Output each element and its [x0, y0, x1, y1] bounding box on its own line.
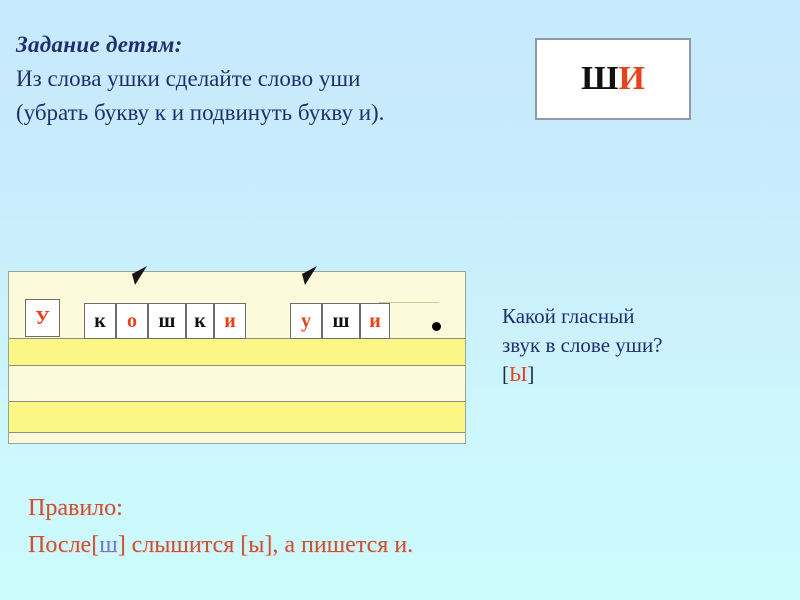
bracket-close: ] [527, 362, 534, 386]
rule-after: ] слышится [ы], а пишется и. [118, 532, 413, 558]
stress-mark-2-icon [300, 266, 318, 288]
rule-letter-sh: ш [99, 532, 117, 558]
question-line-2: звук в слове уши? [502, 331, 792, 360]
letter-cell-i2[interactable]: и [360, 303, 390, 339]
stress-mark-1-icon [130, 266, 148, 288]
rule-body: После[ш] слышится [ы], а пишется и. [28, 527, 548, 564]
period-dot [432, 322, 441, 331]
task-heading: Задание детям: [16, 28, 516, 62]
letter-cell-i1[interactable]: и [214, 303, 246, 339]
shi-highlight-box: ШИ [535, 38, 691, 120]
letter-cell-sh2[interactable]: ш [322, 303, 360, 339]
rule-before: После[ [28, 532, 99, 558]
band-yellow-1 [9, 338, 465, 366]
faint-rule-line [379, 302, 439, 303]
rule-text-block: Правило: После[ш] слышится [ы], а пишетс… [28, 490, 548, 564]
question-answer: [Ы] [502, 360, 792, 389]
task-line-1: Из слова ушки сделайте слово уши [16, 62, 516, 96]
task-line-2: (убрать букву к и подвинуть букву и). [16, 96, 516, 130]
band-yellow-2 [9, 401, 465, 433]
letter-strip-panel: У к о ш к и у ш и [8, 271, 466, 444]
letter-cell-u-solo[interactable]: У [25, 299, 60, 337]
question-line-1: Какой гласный [502, 302, 792, 331]
letter-cell-o[interactable]: о [116, 303, 148, 339]
shi-letter-sh: Ш [581, 60, 618, 98]
letter-cell-u2[interactable]: у [290, 303, 322, 339]
shi-letters: ШИ [537, 40, 689, 118]
letter-cell-k1[interactable]: к [84, 303, 116, 339]
band-cream-3 [9, 433, 465, 443]
letter-cell-sh1[interactable]: ш [148, 303, 186, 339]
answer-sound: Ы [509, 362, 527, 386]
bracket-open: [ [502, 362, 509, 386]
slide-canvas: Задание детям: Из слова ушки сделайте сл… [0, 0, 800, 600]
letter-cell-k2[interactable]: к [186, 303, 214, 339]
rule-heading: Правило: [28, 490, 548, 527]
task-text-block: Задание детям: Из слова ушки сделайте сл… [16, 28, 516, 130]
band-cream-2 [9, 366, 465, 401]
question-text-block: Какой гласный звук в слове уши? [Ы] [502, 302, 792, 389]
shi-letter-i: И [618, 60, 644, 98]
